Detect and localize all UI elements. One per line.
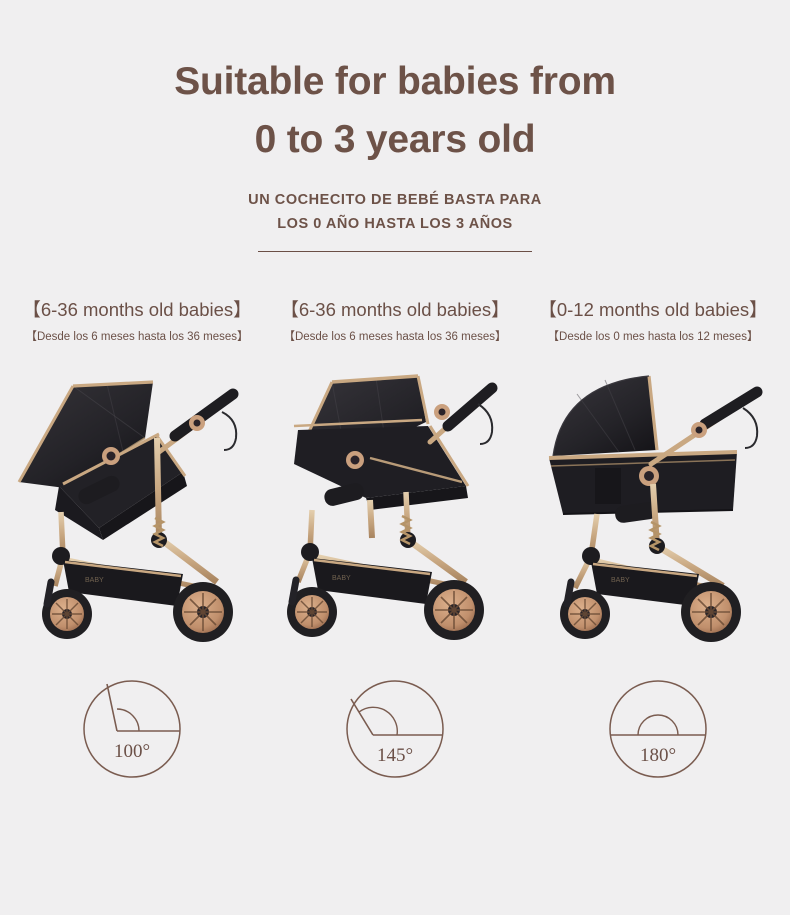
age-label-main: 【0-12 months old babies】: [524, 300, 782, 320]
age-label-main: 【6-36 months old babies】: [266, 300, 524, 320]
header-divider: [258, 251, 532, 252]
angle-value-label: 145°: [377, 745, 413, 766]
angle-second-ray: [107, 684, 117, 731]
age-label-sub: 【Desde los 0 mes hasta los 12 meses】: [524, 331, 782, 344]
angle-arc: [638, 715, 678, 735]
angle-column-3: 180°: [527, 677, 790, 781]
angle-diagram-180: 180°: [606, 677, 710, 781]
stroller-images-row: BABY: [0, 360, 790, 645]
age-label-column-3: 【0-12 months old babies】 【Desde los 0 me…: [524, 300, 782, 344]
angle-arc: [117, 709, 139, 731]
angle-value-label: 100°: [114, 741, 150, 762]
header: Suitable for babies from 0 to 3 years ol…: [0, 0, 790, 252]
angle-column-2: 145°: [263, 677, 526, 781]
canopy: [553, 376, 657, 456]
seat: [294, 426, 468, 510]
angle-diagram-100: 100°: [80, 677, 184, 781]
page-title-line1: Suitable for babies from: [0, 58, 790, 106]
angle-circle: [84, 681, 180, 777]
spanish-subtitle-line2: LOS 0 AÑO HASTA LOS 3 AÑOS: [0, 213, 790, 237]
svg-text:BABY: BABY: [85, 577, 104, 584]
rear-wheel: [424, 580, 484, 640]
stroller-image-reclined-seat: BABY: [270, 360, 520, 645]
svg-text:BABY: BABY: [611, 577, 630, 584]
rear-wheel: [681, 582, 741, 642]
stroller-column-3: BABY: [527, 360, 790, 645]
age-label-main: 【6-36 months old babies】: [8, 300, 266, 320]
stroller-image-forward-facing-seat: BABY: [7, 360, 257, 645]
angle-value-label: 180°: [640, 745, 676, 766]
spanish-subtitle-line1: UN COCHECITO DE BEBÉ BASTA PARA: [0, 189, 790, 213]
angle-diagram-145: 145°: [343, 677, 447, 781]
center-hub: [639, 466, 659, 486]
angle-column-1: 100°: [0, 677, 263, 781]
push-handle: [430, 388, 492, 444]
stroller-column-2: BABY: [263, 360, 526, 645]
age-label-sub: 【Desde los 6 meses hasta los 36 meses】: [266, 331, 524, 344]
age-label-sub: 【Desde los 6 meses hasta los 36 meses】: [8, 331, 266, 344]
age-label-column-2: 【6-36 months old babies】 【Desde los 6 me…: [266, 300, 524, 344]
spanish-subtitle: UN COCHECITO DE BEBÉ BASTA PARA LOS 0 AÑ…: [0, 189, 790, 237]
rear-wheel: [173, 582, 233, 642]
stroller-image-flat-bassinet: BABY: [533, 360, 783, 645]
age-labels-row: 【6-36 months old babies】 【Desde los 6 me…: [0, 300, 790, 344]
angle-second-ray: [351, 699, 373, 735]
age-label-column-1: 【6-36 months old babies】 【Desde los 6 me…: [8, 300, 266, 344]
stroller-column-1: BABY: [0, 360, 263, 645]
push-handle: [159, 394, 236, 452]
product-info-page: Suitable for babies from 0 to 3 years ol…: [0, 0, 790, 915]
angle-diagrams-row: 100° 145° 180°: [0, 677, 790, 781]
page-title-line2: 0 to 3 years old: [0, 116, 790, 164]
svg-text:BABY: BABY: [332, 575, 351, 582]
storage-basket: BABY: [591, 562, 699, 606]
